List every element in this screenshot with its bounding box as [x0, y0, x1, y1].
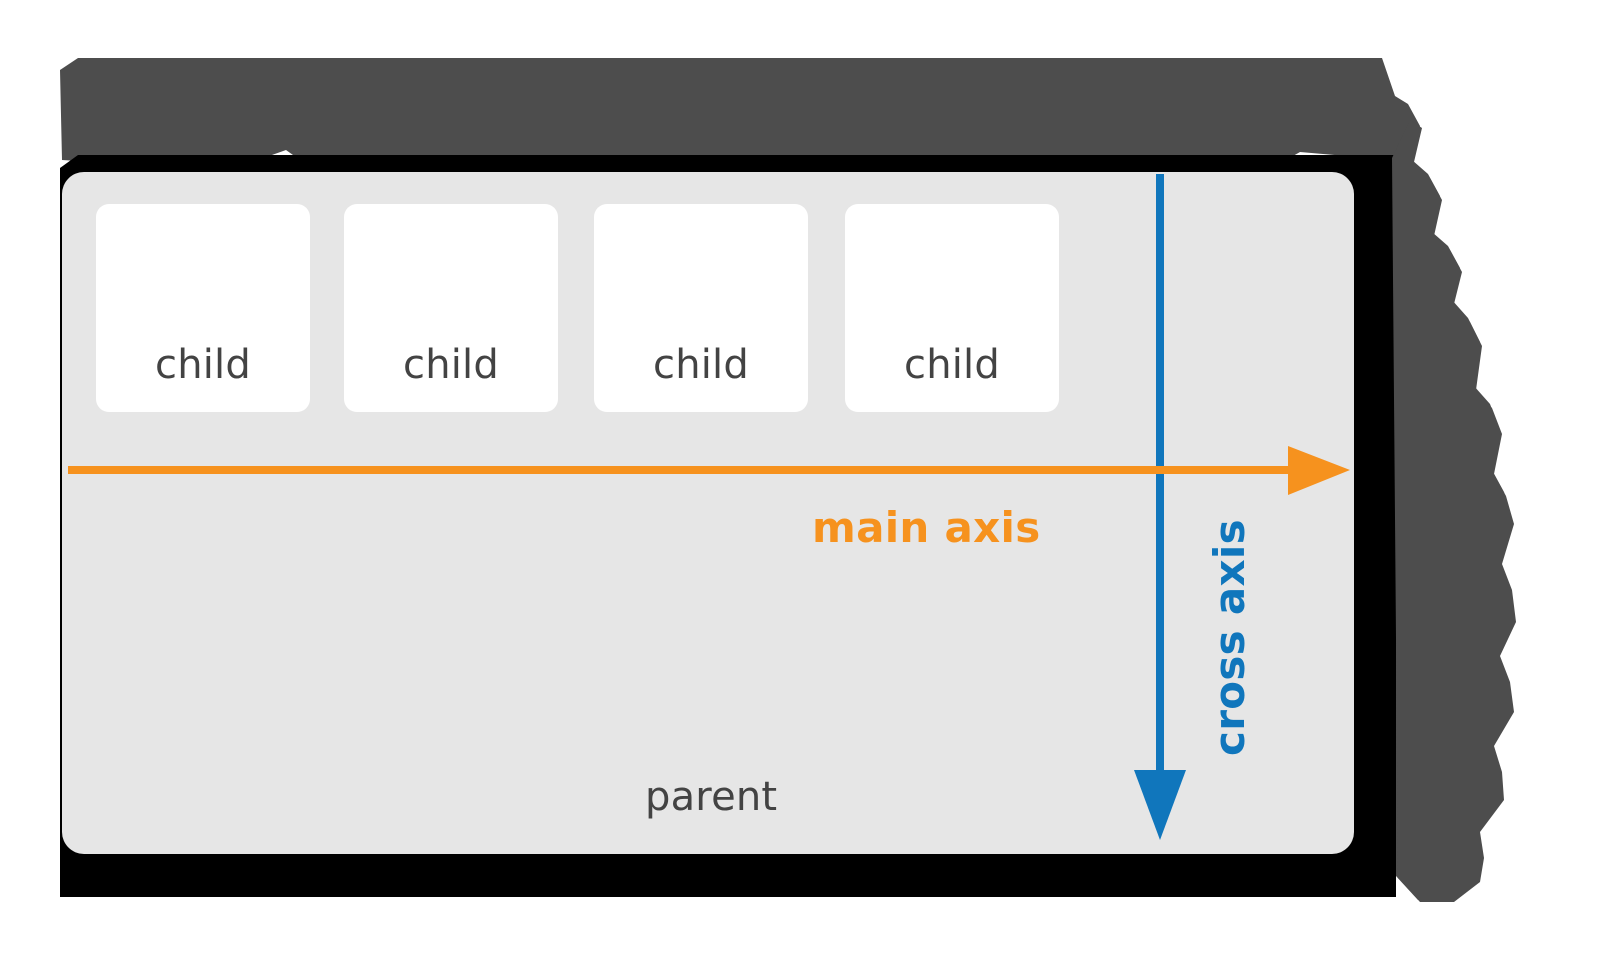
child-label-1: child: [155, 342, 251, 388]
child-label-4: child: [904, 342, 1000, 388]
device-edge-jagged: [1392, 120, 1516, 902]
diagram-artwork: [0, 0, 1600, 977]
main-axis-label: main axis: [812, 503, 1041, 552]
cross-axis-label: cross axis: [1205, 519, 1254, 756]
parent-label: parent: [645, 774, 777, 820]
child-label-3: child: [653, 342, 749, 388]
diagram-canvas: child child child child parent main axis…: [0, 0, 1600, 977]
child-label-2: child: [403, 342, 499, 388]
